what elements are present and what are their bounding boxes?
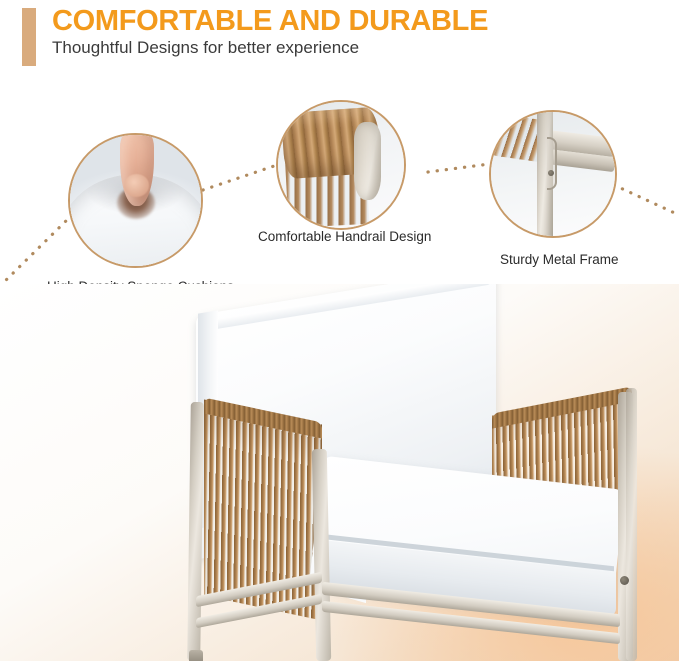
- page-subtitle: Thoughtful Designs for better experience: [52, 38, 359, 58]
- connector-one-to-two: [203, 165, 277, 190]
- callout-3-caption: Sturdy Metal Frame: [500, 252, 619, 267]
- callout-2-caption: Comfortable Handrail Design: [258, 229, 431, 244]
- chair-rear-right-post: [626, 388, 637, 661]
- product-photo: [0, 284, 679, 661]
- header: COMFORTABLE AND DURABLE Thoughtful Desig…: [0, 0, 679, 82]
- page-title: COMFORTABLE AND DURABLE: [52, 5, 488, 38]
- callout-2-image: [276, 100, 406, 230]
- product-infographic: COMFORTABLE AND DURABLE Thoughtful Desig…: [0, 0, 679, 661]
- callout-1-image: [68, 133, 203, 268]
- header-accent-bar: [22, 8, 36, 66]
- connector-left-edge: [0, 215, 72, 286]
- connector-two-to-three: [428, 163, 497, 172]
- connector-right-edge: [614, 185, 679, 215]
- chair-left-foot: [189, 650, 203, 661]
- chair-frame-bolt: [620, 576, 629, 585]
- callout-3-image: [489, 110, 617, 238]
